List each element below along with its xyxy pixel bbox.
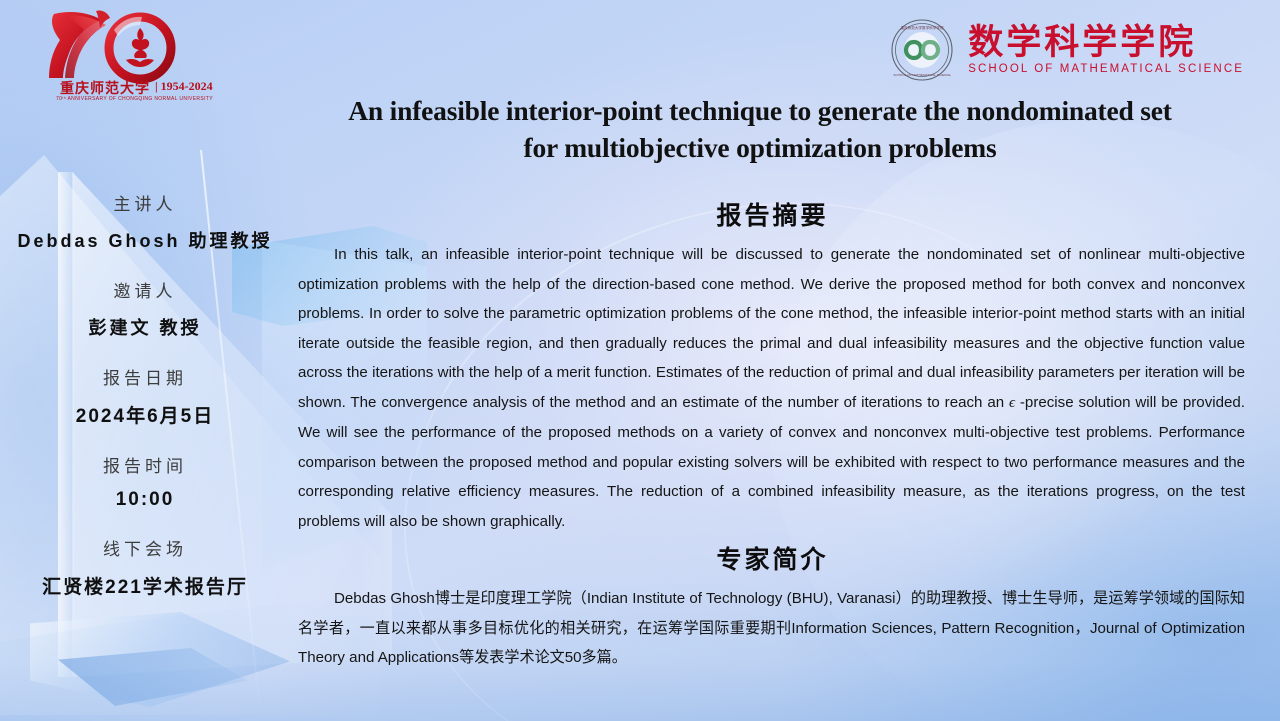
- info-value-speaker: Debdas Ghosh 助理教授: [0, 227, 290, 253]
- background-glass-prism-shadow: [58, 648, 248, 706]
- speaker-info-column: 主讲人 Debdas Ghosh 助理教授 邀请人 彭建文 教授 报告日期 20…: [0, 190, 290, 623]
- svg-text:重庆师范大学数学科学学院: 重庆师范大学数学科学学院: [901, 25, 945, 30]
- abstract-body: In this talk, an infeasible interior-poi…: [290, 240, 1255, 536]
- info-value-venue: 汇贤楼221学术报告厅: [0, 572, 290, 599]
- info-label-inviter: 邀请人: [0, 277, 290, 302]
- abstract-text-part-1: In this talk, an infeasible interior-poi…: [298, 246, 1245, 411]
- info-block-speaker: 主讲人 Debdas Ghosh 助理教授: [0, 190, 290, 253]
- poster-title-line-2: for multiobjective optimization problems: [250, 129, 1270, 166]
- poster-title: An infeasible interior-point technique t…: [250, 92, 1270, 166]
- school-seal-icon: 重庆师范大学数学科学学院 SCHOOL OF MATHEMATICAL SCIE…: [890, 18, 954, 82]
- info-value-time: 10:00: [0, 489, 290, 511]
- school-name-cn: 数学科学学院: [968, 25, 1244, 62]
- school-name-en: SCHOOL OF MATHEMATICAL SCIENCE: [968, 63, 1244, 75]
- info-block-time: 报告时间 10:00: [0, 452, 290, 511]
- poster-title-line-1: An infeasible interior-point technique t…: [250, 92, 1270, 129]
- info-block-date: 报告日期 2024年6月5日: [0, 364, 290, 428]
- school-logo: 重庆师范大学数学科学学院 SCHOOL OF MATHEMATICAL SCIE…: [890, 18, 1244, 82]
- info-label-venue: 线下会场: [0, 535, 290, 560]
- abstract-text-part-2: -precise solution will be provided. We w…: [298, 394, 1245, 530]
- svg-text:SCHOOL OF MATHEMATICAL SCIENCE: SCHOOL OF MATHEMATICAL SCIENCE: [894, 73, 951, 77]
- lecture-poster: 重庆师范大学 | 1954-2024 70ᵗʰ ANNIVERSARY OF C…: [0, 0, 1280, 721]
- info-label-speaker: 主讲人: [0, 190, 290, 215]
- info-block-inviter: 邀请人 彭建文 教授: [0, 277, 290, 340]
- info-value-date: 2024年6月5日: [0, 401, 290, 428]
- university-logo: 重庆师范大学 | 1954-2024 70ᵗʰ ANNIVERSARY OF C…: [36, 8, 221, 108]
- info-label-time: 报告时间: [0, 452, 290, 477]
- abstract-heading: 报告摘要: [290, 196, 1255, 232]
- abstract-section: 报告摘要 In this talk, an infeasible interio…: [290, 196, 1255, 536]
- university-name-cn: 重庆师范大学: [60, 78, 150, 98]
- info-block-venue: 线下会场 汇贤楼221学术报告厅: [0, 535, 290, 599]
- background-glass-prism: [30, 612, 290, 707]
- bio-body: Debdas Ghosh博士是印度理工学院（Indian Institute o…: [290, 584, 1255, 673]
- university-name-en: 70ᵗʰ ANNIVERSARY OF CHONGQING NORMAL UNI…: [56, 96, 213, 102]
- bio-section: 专家简介 Debdas Ghosh博士是印度理工学院（Indian Instit…: [290, 540, 1255, 673]
- university-years: | 1954-2024: [155, 79, 213, 94]
- bio-text: Debdas Ghosh博士是印度理工学院（Indian Institute o…: [298, 590, 1245, 666]
- info-value-inviter: 彭建文 教授: [0, 314, 290, 340]
- info-label-date: 报告日期: [0, 364, 290, 389]
- bio-heading: 专家简介: [290, 540, 1255, 576]
